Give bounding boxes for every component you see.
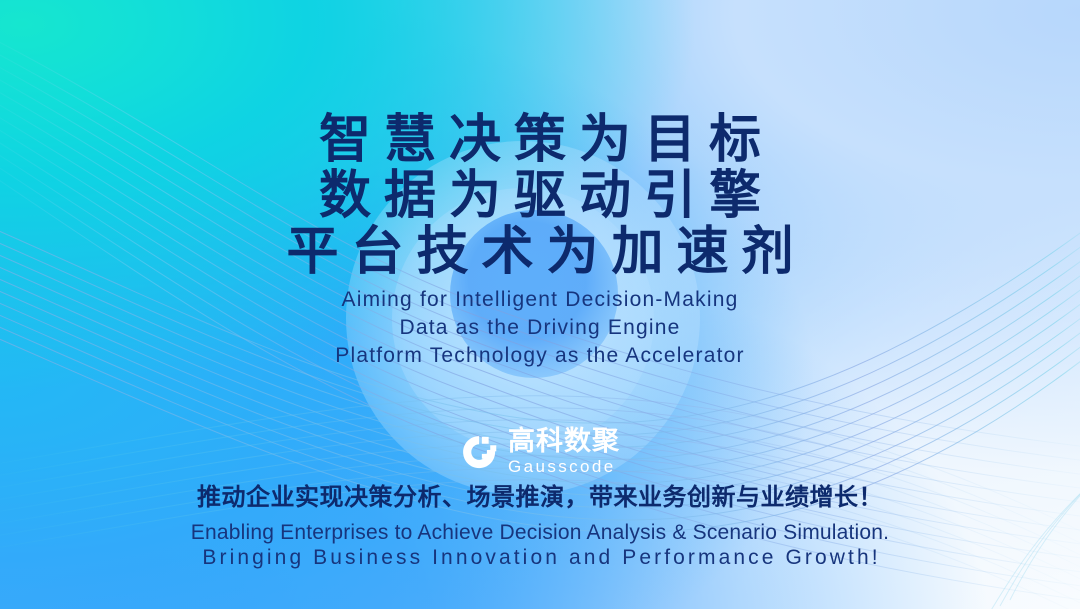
subtitle-line-2: Data as the Driving Engine <box>0 315 1080 341</box>
gausscode-logo-mark-icon <box>460 433 499 472</box>
poster-canvas: 智慧决策为目标 数据为驱动引擎 平台技术为加速剂 Aiming for Inte… <box>0 0 1080 609</box>
tagline-english-line-2: Bringing Business Innovation and Perform… <box>0 544 1080 571</box>
tagline-chinese: 推动企业实现决策分析、场景推演，带来业务创新与业绩增长！ <box>0 483 1080 513</box>
headline-line-3: 平台技术为加速剂 <box>0 224 1080 280</box>
subtitle-line-3: Platform Technology as the Accelerator <box>0 343 1080 369</box>
tagline-english-line-1: Enabling Enterprises to Achieve Decision… <box>0 519 1080 546</box>
headline: 智慧决策为目标 数据为驱动引擎 平台技术为加速剂 <box>0 112 1080 280</box>
brand-name-cn: 高科数聚 <box>508 428 620 455</box>
subtitle-line-1: Aiming for Intelligent Decision-Making <box>0 287 1080 313</box>
headline-line-1: 智慧决策为目标 <box>0 112 1080 168</box>
headline-line-2: 数据为驱动引擎 <box>0 168 1080 224</box>
poster-content: 智慧决策为目标 数据为驱动引擎 平台技术为加速剂 Aiming for Inte… <box>0 0 1080 609</box>
brand-logo: 高科数聚 Gausscode <box>0 428 1080 476</box>
brand-logo-text: 高科数聚 Gausscode <box>508 428 620 476</box>
brand-name-en: Gausscode <box>508 457 616 476</box>
